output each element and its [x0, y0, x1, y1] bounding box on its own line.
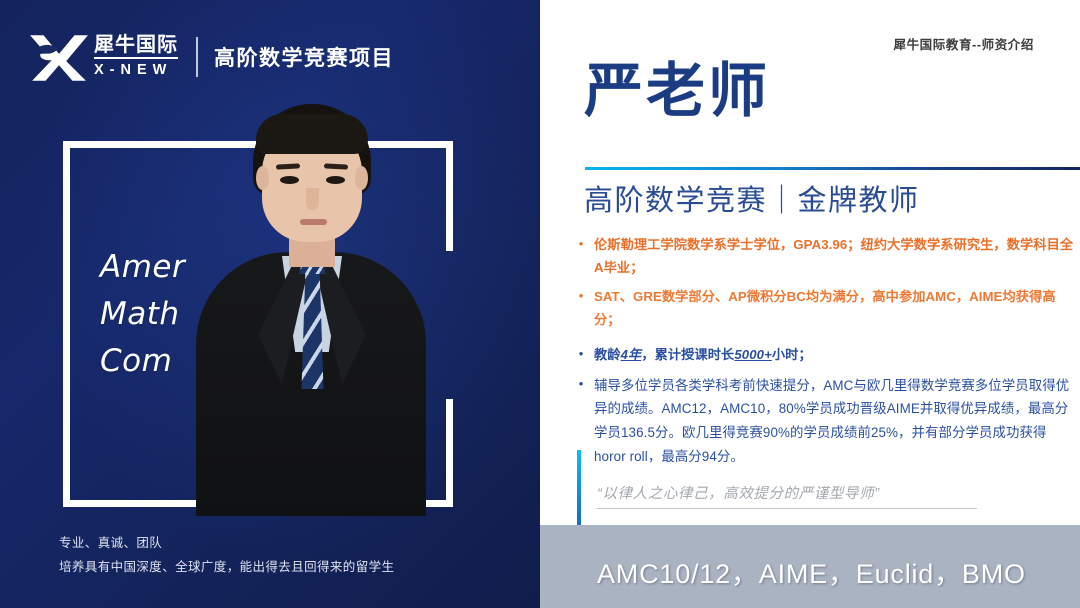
photo-watermark-text: Amer Math Com	[100, 244, 185, 385]
portrait-eye-right	[326, 176, 345, 184]
list-item: • 伦斯勒理工学院数学系学士学位，GPA3.96；纽约大学数学系研究生，数学科目…	[568, 234, 1076, 279]
teacher-name-heading: 严老师	[584, 62, 770, 121]
deck-title: 高阶数学竞赛项目	[214, 42, 394, 72]
corner-note: 犀牛国际教育--师资介绍	[893, 34, 1034, 53]
right-panel: 犀牛国际教育--师资介绍 严老师 高阶数学竞赛｜金牌教师 • 伦斯勒理工学院数学…	[540, 0, 1080, 608]
portrait-ear-right	[355, 166, 368, 190]
brand-logo-cn: 犀牛国际	[94, 35, 178, 60]
list-item: • 教龄4年，累计授课时长5000+小时；	[568, 344, 1076, 367]
brand-logo-words: 犀牛国际 X-NEW	[94, 35, 178, 80]
bullet-dot-icon: •	[568, 344, 594, 367]
portrait-eye-left	[280, 176, 299, 184]
frame-edge-right-lower	[446, 399, 453, 507]
left-panel: 犀牛国际 X-NEW 高阶数学竞赛项目 Amer Math Com	[0, 0, 540, 608]
list-item: • 辅导多位学员各类学科考前快速提分，AMC与欧几里得数学竞赛多位学员取得优异的…	[568, 374, 1076, 469]
credentials-list: • 伦斯勒理工学院数学系学士学位，GPA3.96；纽约大学数学系研究生，数学科目…	[568, 234, 1076, 476]
teacher-portrait-photo	[196, 104, 426, 516]
teaching-hours-value: 5000+	[734, 347, 772, 362]
teacher-quote: “以律人之心律己，高效提分的严谨型导师”	[597, 482, 977, 509]
brand-logo-en: X-NEW	[94, 61, 178, 79]
list-item: • SAT、GRE数学部分、AP微积分BC均为满分，高中参加AMC，AIME均获…	[568, 286, 1076, 331]
logo-divider	[196, 37, 198, 77]
frame-edge-right-upper	[446, 141, 453, 251]
portrait-mouth	[300, 219, 327, 225]
brand-logo-row: 犀牛国际 X-NEW 高阶数学竞赛项目	[28, 26, 394, 88]
courses-band-text: AMC10/12，AIME，Euclid，BMO	[597, 552, 1026, 591]
bullet-dot-icon: •	[568, 374, 594, 469]
brand-slogan-line1: 专业、真诚、团队	[59, 531, 394, 555]
accent-divider-line	[585, 167, 1080, 170]
courses-band: AMC10/12，AIME，Euclid，BMO	[540, 525, 1080, 608]
teaching-years-prefix: 教龄	[594, 347, 621, 362]
list-item-text: 教龄4年，累计授课时长5000+小时；	[594, 344, 1076, 367]
list-item-text: 辅导多位学员各类学科考前快速提分，AMC与欧几里得数学竞赛多位学员取得优异的成绩…	[594, 374, 1076, 469]
frame-edge-left	[63, 141, 70, 507]
brand-slogan-line2: 培养具有中国深度、全球广度，能出得去且回得来的留学生	[59, 555, 394, 579]
rhino-x-logo-icon	[28, 30, 90, 84]
teaching-years-value: 4年	[621, 347, 642, 362]
teaching-hours-prefix: ，累计授课时长	[641, 347, 734, 362]
portrait-nose	[306, 188, 319, 210]
teacher-subtitle: 高阶数学竞赛｜金牌教师	[584, 183, 920, 219]
portrait-ear-left	[256, 166, 269, 190]
bullet-dot-icon: •	[568, 234, 594, 279]
list-item-text: SAT、GRE数学部分、AP微积分BC均为满分，高中参加AMC，AIME均获得高…	[594, 286, 1076, 331]
brand-slogan: 专业、真诚、团队 培养具有中国深度、全球广度，能出得去且回得来的留学生	[59, 531, 394, 580]
teaching-hours-suffix: 小时；	[772, 347, 812, 362]
portrait-fringe	[256, 114, 368, 154]
slide-root: 犀牛国际 X-NEW 高阶数学竞赛项目 Amer Math Com	[0, 0, 1080, 608]
list-item-text: 伦斯勒理工学院数学系学士学位，GPA3.96；纽约大学数学系研究生，数学科目全A…	[594, 234, 1076, 279]
bullet-dot-icon: •	[568, 286, 594, 331]
